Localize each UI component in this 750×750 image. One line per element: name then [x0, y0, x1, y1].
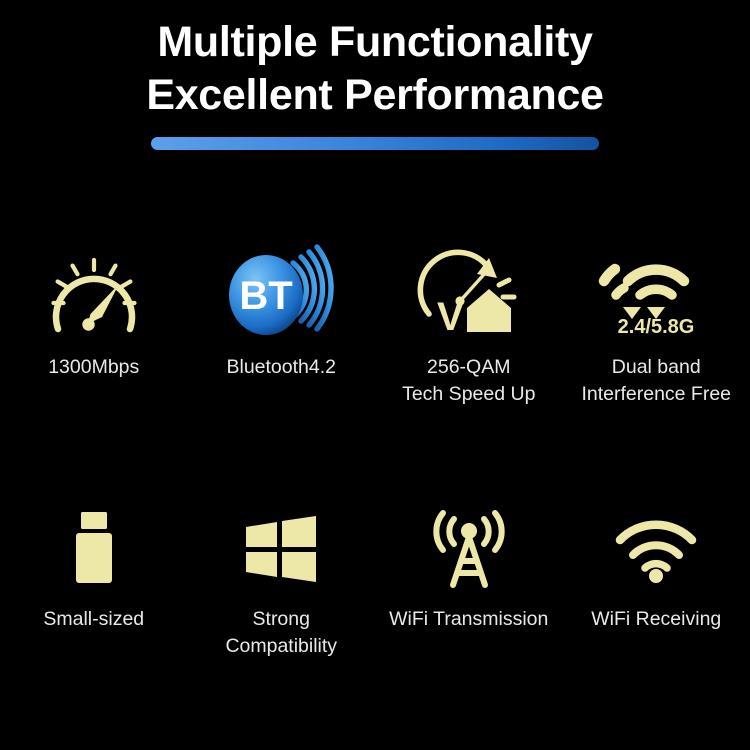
qam-v-glyph: V [437, 295, 464, 339]
feature-item-small-size: Small-sized [0, 508, 188, 659]
title-line-2: Excellent Performance [0, 69, 750, 122]
dual-band-badge-text: 2.4/5.8G [618, 316, 695, 338]
windows-icon-box [244, 508, 318, 590]
qam-icon-box: V [415, 248, 523, 340]
usb-stick-icon [68, 510, 120, 588]
title-line-1: Multiple Functionality [0, 16, 750, 69]
feature-label: WiFi Receiving [591, 606, 721, 633]
title-divider-wrap [0, 137, 750, 150]
dual-band-icon-box: 2.4/5.8G [598, 248, 714, 340]
usb-icon-box [68, 508, 120, 590]
qam-speed-house-icon: V [415, 248, 523, 340]
tower-icon-box [426, 508, 512, 590]
feature-item-bluetooth: BT Bluetooth4.2 [188, 248, 376, 407]
radio-tower-icon [426, 509, 512, 589]
title-divider-bar [151, 137, 599, 150]
feature-label: Strong Compatibility [225, 606, 337, 659]
wifi-icon-box [614, 508, 698, 590]
bluetooth-badge-text: BT [240, 274, 293, 318]
feature-label: 256-QAM Tech Speed Up [402, 354, 535, 407]
speedometer-icon-box [46, 248, 142, 340]
feature-label: 1300Mbps [48, 354, 139, 381]
feature-item-compatibility: Strong Compatibility [188, 508, 376, 659]
feature-item-dualband: 2.4/5.8G Dual band Interference Free [563, 248, 750, 407]
bluetooth-bt-icon: BT [217, 241, 345, 347]
feature-row-2: Small-sized Strong Compatibility [0, 508, 750, 659]
feature-label: WiFi Transmission [389, 606, 548, 633]
feature-item-qam: V 256-QAM Tech Speed Up [375, 248, 563, 407]
feature-item-transmission: WiFi Transmission [375, 508, 563, 659]
feature-row-1: 1300Mbps [0, 248, 750, 407]
banner-header: Multiple Functionality Excellent Perform… [0, 16, 750, 150]
product-feature-banner: Multiple Functionality Excellent Perform… [0, 0, 750, 750]
feature-label: Bluetooth4.2 [226, 354, 336, 381]
bluetooth-icon-box: BT [217, 248, 345, 340]
wifi-signal-icon [614, 516, 698, 582]
feature-item-speed: 1300Mbps [0, 248, 188, 407]
feature-label: Dual band Interference Free [581, 354, 731, 407]
speedometer-icon [46, 251, 142, 337]
windows-logo-icon [244, 516, 318, 582]
dual-band-wifi-icon: 2.4/5.8G [598, 251, 714, 337]
feature-item-receiving: WiFi Receiving [563, 508, 750, 659]
feature-label: Small-sized [43, 606, 144, 633]
